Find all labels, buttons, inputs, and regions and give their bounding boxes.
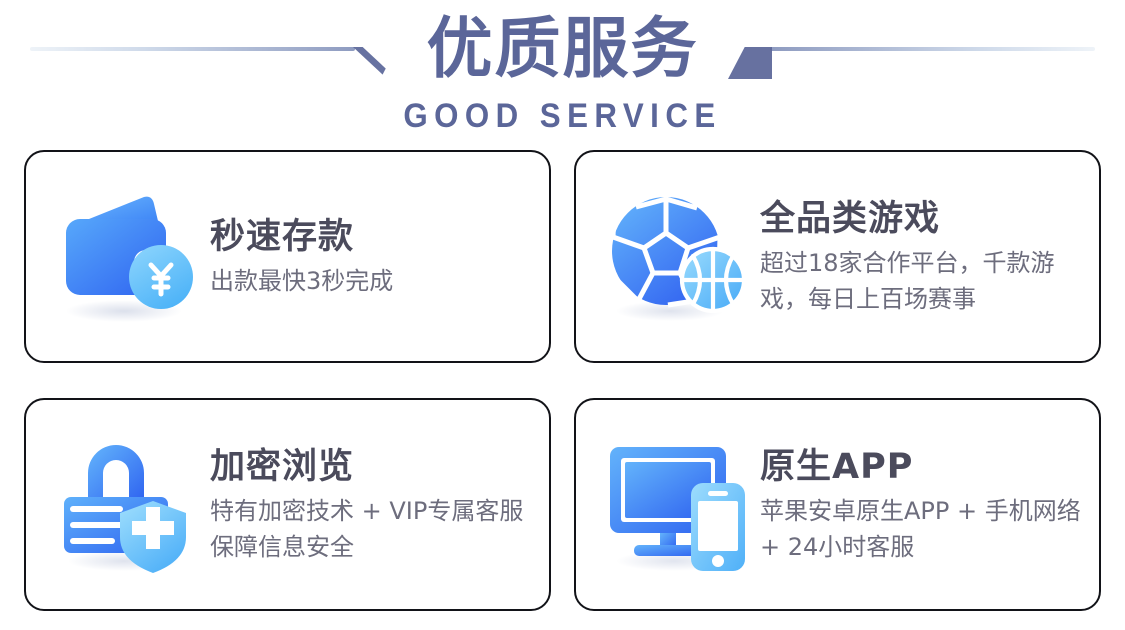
promo-banner: 优质服务 GOOD SERVICE: [0, 0, 1125, 630]
wallet-yen-icon: [48, 177, 208, 337]
feature-card-text: 全品类游戏 超过18家合作平台，千款游戏，每日上百场赛事: [758, 197, 1099, 317]
feature-card-title: 秒速存款: [210, 215, 531, 259]
feature-card-title: 加密浏览: [210, 445, 531, 489]
feature-card-desc: 超过18家合作平台，千款游戏，每日上百场赛事: [760, 245, 1081, 317]
feature-card-deposit[interactable]: 秒速存款 出款最快3秒完成: [24, 150, 551, 363]
feature-card-desc: 苹果安卓原生APP + 手机网络 + 24小时客服: [760, 493, 1081, 565]
page-subtitle: GOOD SERVICE: [45, 96, 1080, 136]
monitor-phone-icon: [598, 425, 758, 585]
banner-header: 优质服务 GOOD SERVICE: [0, 0, 1125, 150]
lock-shield-icon: [48, 425, 208, 585]
feature-card-desc: 特有加密技术 + VIP专属客服保障信息安全: [210, 493, 531, 565]
feature-card-title: 全品类游戏: [760, 197, 1081, 241]
feature-card-native-app[interactable]: 原生APP 苹果安卓原生APP + 手机网络 + 24小时客服: [574, 398, 1101, 611]
feature-card-text: 加密浏览 特有加密技术 + VIP专属客服保障信息安全: [208, 445, 549, 565]
feature-card-text: 秒速存款 出款最快3秒完成: [208, 215, 549, 299]
feature-card-games[interactable]: 全品类游戏 超过18家合作平台，千款游戏，每日上百场赛事: [574, 150, 1101, 363]
soccer-basketball-icon: [598, 177, 758, 337]
feature-card-text: 原生APP 苹果安卓原生APP + 手机网络 + 24小时客服: [758, 445, 1099, 565]
feature-card-encryption[interactable]: 加密浏览 特有加密技术 + VIP专属客服保障信息安全: [24, 398, 551, 611]
feature-card-desc: 出款最快3秒完成: [210, 263, 531, 299]
feature-card-title: 原生APP: [760, 445, 1081, 489]
page-title: 优质服务: [0, 10, 1125, 88]
feature-card-grid: 秒速存款 出款最快3秒完成: [24, 150, 1101, 611]
